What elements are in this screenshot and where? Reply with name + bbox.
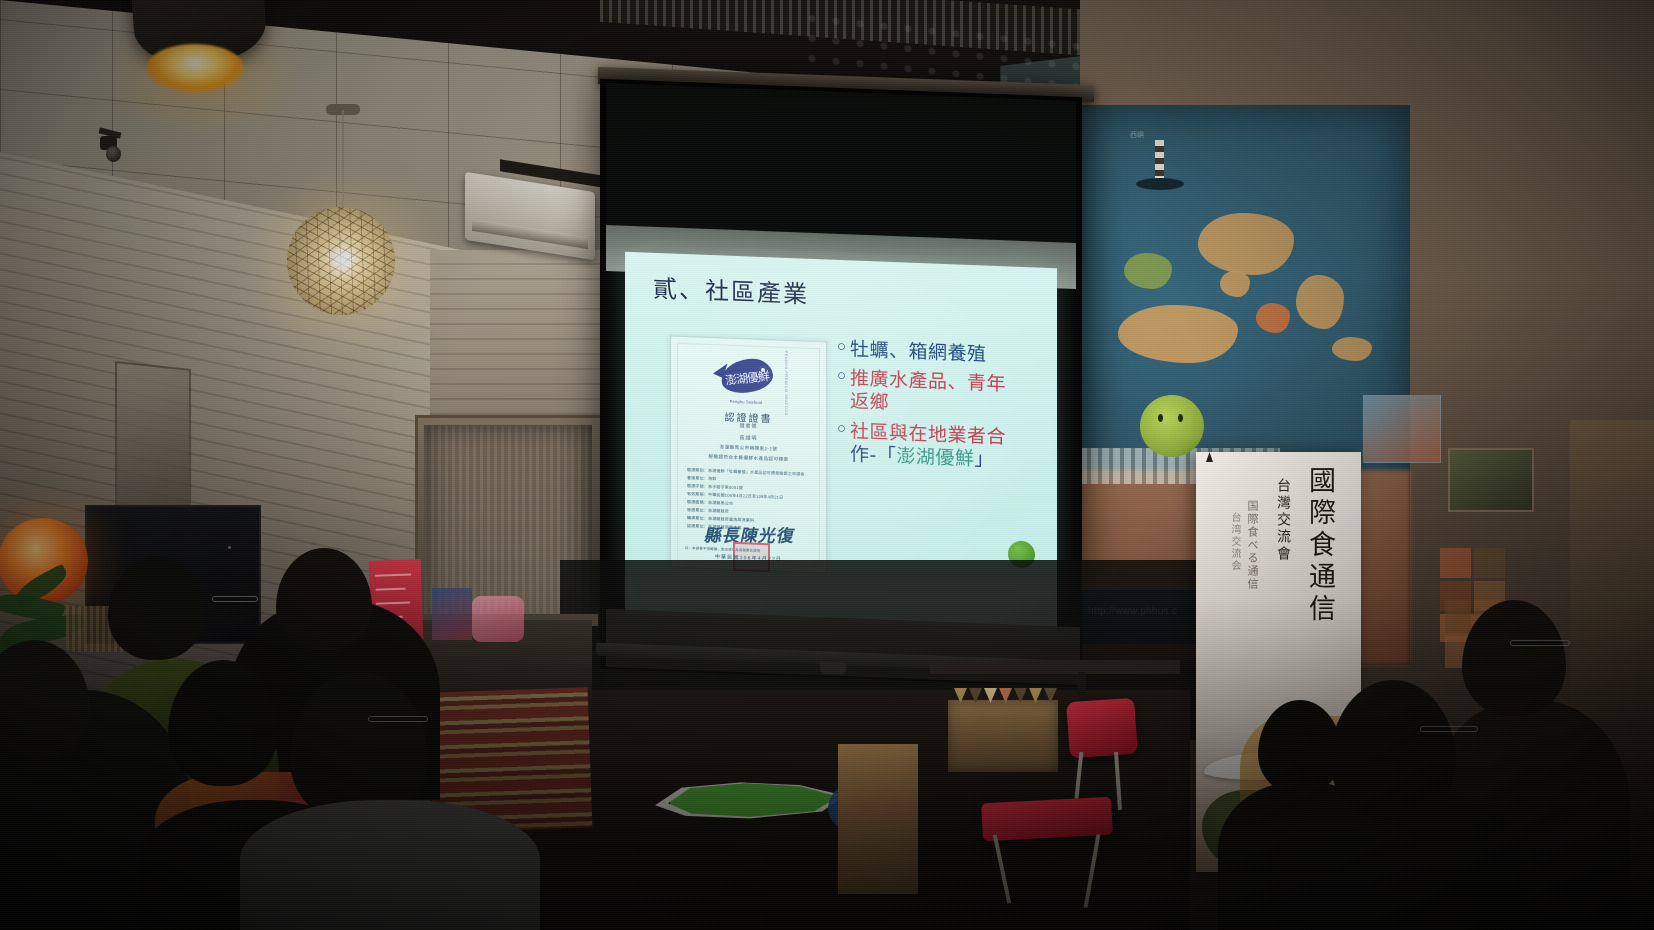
bullet-marker-icon: ○	[837, 419, 850, 437]
slide-title: 貳、社區產業	[653, 269, 809, 310]
camera-lens-icon	[106, 146, 121, 162]
bullet-text-wrap: 社區與在地業者合 作-「澎湖優鮮」	[850, 420, 1006, 472]
tv-indicator-icon	[228, 546, 231, 549]
magazine	[432, 588, 472, 640]
wall-picture-frame	[115, 361, 191, 523]
pendant-lamp-bulb	[146, 44, 244, 92]
wall-poster	[1363, 395, 1441, 463]
certificate-side-text: PENGHU PREMIUM SEAFOOD	[784, 351, 788, 416]
bunting-flags	[952, 684, 1064, 704]
map-mascot-eye-left	[1158, 414, 1163, 422]
banner-subtitle: 台灣交流會	[1274, 478, 1294, 563]
eyeglasses-icon	[1510, 640, 1570, 646]
eyeglasses-icon	[368, 716, 428, 722]
globe-lamp-bulb	[325, 245, 359, 277]
photograph-scene: 西嶼 http://www.phbus.c 貳、社區產業 澎湖優鮮 Penghu…	[0, 0, 1654, 930]
map-mascot-eye-right	[1178, 414, 1183, 422]
wall-photo-board	[1448, 448, 1534, 512]
globe-lamp-cord	[342, 110, 344, 218]
bullet-text-line2: 返鄉	[850, 391, 889, 414]
presenter-table	[930, 660, 1180, 674]
penghu-seafood-fish-logo: 澎湖優鮮	[713, 352, 779, 401]
red-folding-chair-seat[interactable]	[981, 797, 1113, 842]
banner-japanese-line-1: 国際食べる通信	[1244, 500, 1260, 591]
cardboard-box	[948, 700, 1058, 772]
bullet-item-2: ○ 推廣水產品、青年 返鄉	[837, 367, 1055, 422]
pink-bag	[472, 596, 524, 642]
cardboard-box-tall	[838, 744, 918, 894]
map-label: 西嶼	[1130, 130, 1144, 140]
bullet-marker-icon: ○	[837, 367, 850, 385]
bullet-text-brand: 澎湖優鮮	[896, 445, 974, 470]
photo-board-caption	[1450, 468, 1452, 474]
lighthouse-illustration	[1155, 140, 1164, 182]
bullet-text-suffix: 」	[974, 448, 994, 471]
bullet-text-prefix: 作-「	[850, 443, 896, 467]
banner-title: 國際食通信	[1300, 466, 1339, 626]
bullet-item-3: ○ 社區與在地業者合 作-「澎湖優鮮」	[837, 419, 1055, 474]
bullet-item-1: ○ 牡蠣、箱網養殖	[837, 338, 1055, 370]
slide-bullet-list: ○ 牡蠣、箱網養殖 ○ 推廣水產品、青年 返鄉 ○ 社區與在地業者合 作-「澎湖…	[837, 338, 1055, 480]
eyeglasses-icon	[212, 596, 258, 602]
bullet-text: 牡蠣、箱網養殖	[850, 338, 987, 366]
map-mascot	[1140, 395, 1204, 457]
certificate-row: 養殖單位：海鮮	[687, 475, 716, 482]
bullet-marker-icon: ○	[837, 338, 850, 356]
right-shelf	[1570, 420, 1654, 720]
red-folding-chair-back[interactable]	[1066, 698, 1138, 759]
banner-japanese-line-2: 台湾交流会	[1227, 512, 1242, 572]
audience-person-body	[240, 800, 540, 930]
lighthouse-base	[1136, 178, 1184, 190]
eyeglasses-icon	[1420, 726, 1478, 732]
certificate-image: 澎湖優鮮 Penghu Seafood PENGHU PREMIUM SEAFO…	[670, 335, 827, 573]
bullet-text-wrap: 推廣水產品、青年 返鄉	[850, 368, 1006, 420]
